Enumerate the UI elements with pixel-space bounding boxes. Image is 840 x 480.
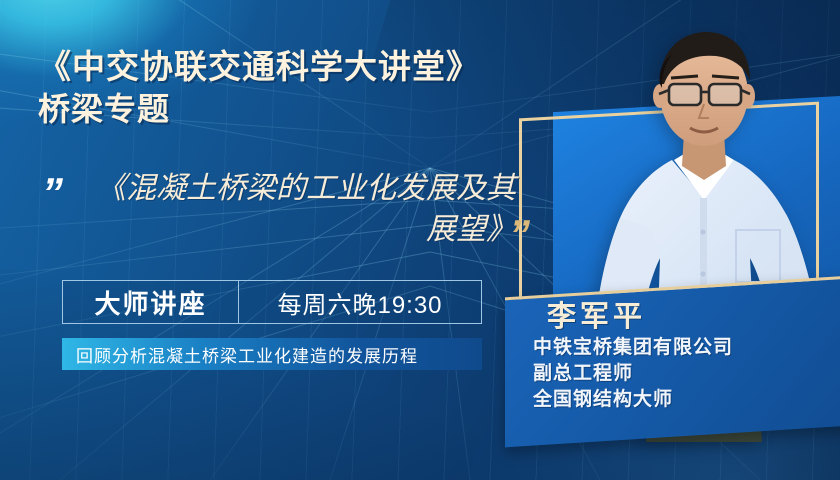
- schedule-label: 大师讲座: [63, 284, 238, 321]
- lecture-poster: 《中交协联交通科学大讲堂》 桥梁专题 ” 《混凝土桥梁的工业化发展及其展望》 ”…: [0, 0, 840, 480]
- title-line-2: 桥梁专题: [38, 88, 508, 130]
- lecture-topic-quote: ” 《混凝土桥梁的工业化发展及其展望》 ”: [40, 168, 525, 266]
- speaker-affiliation-1: 副总工程师: [533, 361, 840, 387]
- speaker-affiliation-2: 全国钢结构大师: [533, 387, 840, 413]
- quote-close-mark: ”: [509, 214, 527, 256]
- schedule-time: 每周六晚19:30: [239, 285, 481, 320]
- description-banner: 回顾分析混凝土桥梁工业化建造的发展历程: [62, 338, 482, 370]
- poster-title: 《中交协联交通科学大讲堂》 桥梁专题: [38, 46, 508, 130]
- lecture-topic-text: 《混凝土桥梁的工业化发展及其展望》: [86, 168, 516, 250]
- schedule-box: 大师讲座 每周六晚19:30: [62, 280, 482, 324]
- description-text: 回顾分析混凝土桥梁工业化建造的发展历程: [76, 342, 418, 367]
- speaker-affiliation-0: 中铁宝桥集团有限公司: [533, 335, 840, 361]
- quote-open-mark: ”: [42, 172, 60, 214]
- speaker-nameplate: 李军平 中铁宝桥集团有限公司 副总工程师 全国钢结构大师: [505, 275, 840, 448]
- title-line-1: 《中交协联交通科学大讲堂》: [38, 46, 508, 88]
- speaker-name: 李军平: [547, 299, 840, 335]
